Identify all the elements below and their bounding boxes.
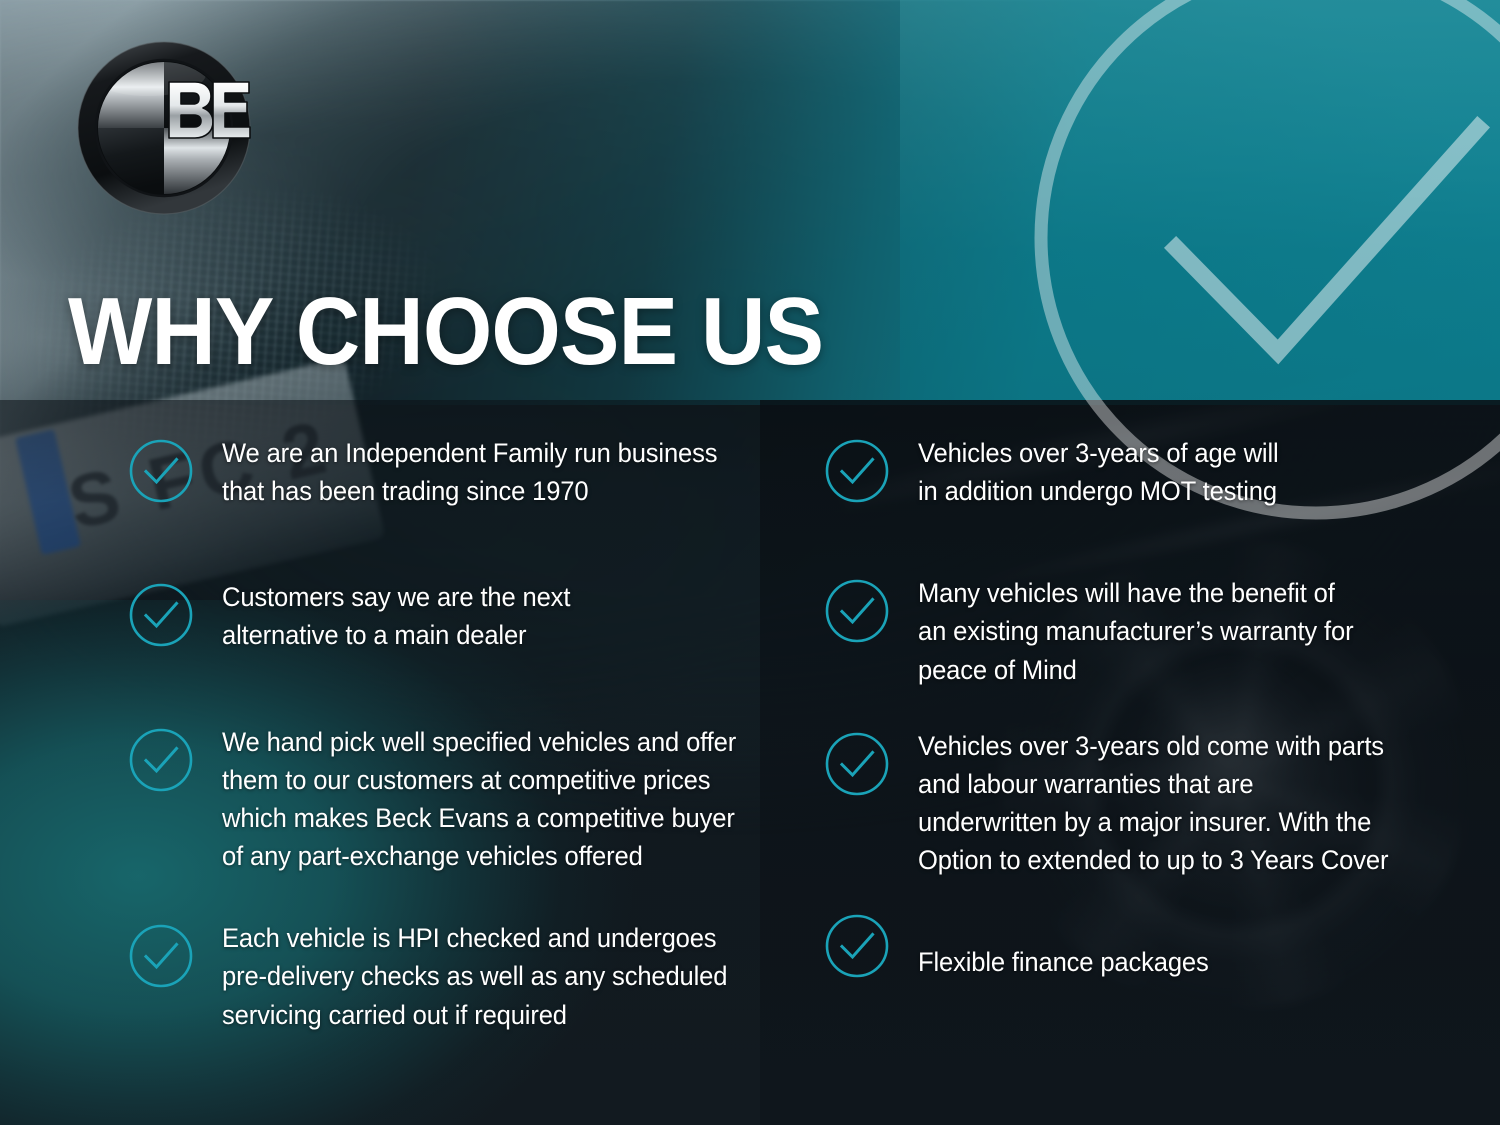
why-choose-us-banner: S FC 2 87 bbox=[0, 0, 1500, 1125]
benefits-columns: We are an Independent Family run busines… bbox=[0, 432, 1500, 1078]
check-circle-icon bbox=[128, 727, 194, 793]
benefits-column-right: Vehicles over 3-years of age will in add… bbox=[824, 432, 1500, 1078]
list-item: We are an Independent Family run busines… bbox=[128, 432, 804, 510]
list-item-text: Vehicles over 3-years of age will in add… bbox=[918, 432, 1279, 510]
teal-tint-panel-bright bbox=[900, 0, 1500, 405]
beck-evans-roundel-logo[interactable] bbox=[74, 38, 254, 218]
list-item: Vehicles over 3-years of age will in add… bbox=[824, 432, 1500, 510]
list-item-text: Many vehicles will have the benefit of a… bbox=[918, 572, 1353, 688]
check-circle-icon bbox=[128, 582, 194, 648]
list-item: We hand pick well specified vehicles and… bbox=[128, 721, 804, 876]
benefits-column-left: We are an Independent Family run busines… bbox=[128, 432, 804, 1078]
list-item-text: We hand pick well specified vehicles and… bbox=[222, 721, 736, 876]
list-item: Many vehicles will have the benefit of a… bbox=[824, 572, 1500, 688]
list-item-text: Customers say we are the next alternativ… bbox=[222, 576, 570, 654]
check-circle-icon bbox=[128, 923, 194, 989]
list-item-text: Each vehicle is HPI checked and undergoe… bbox=[222, 917, 727, 1033]
check-circle-icon bbox=[824, 731, 890, 797]
list-item-text: Flexible finance packages bbox=[918, 907, 1209, 981]
list-item-text: Vehicles over 3-years old come with part… bbox=[918, 725, 1388, 880]
check-circle-icon bbox=[128, 438, 194, 504]
list-item-text: We are an Independent Family run busines… bbox=[222, 432, 717, 510]
check-circle-icon bbox=[824, 438, 890, 504]
list-item: Flexible finance packages bbox=[824, 907, 1500, 981]
check-circle-icon bbox=[824, 578, 890, 644]
list-item: Vehicles over 3-years old come with part… bbox=[824, 725, 1500, 880]
list-item: Each vehicle is HPI checked and undergoe… bbox=[128, 917, 804, 1033]
list-item: Customers say we are the next alternativ… bbox=[128, 576, 804, 654]
check-circle-icon bbox=[824, 913, 890, 979]
page-title: WHY CHOOSE US bbox=[68, 284, 823, 380]
